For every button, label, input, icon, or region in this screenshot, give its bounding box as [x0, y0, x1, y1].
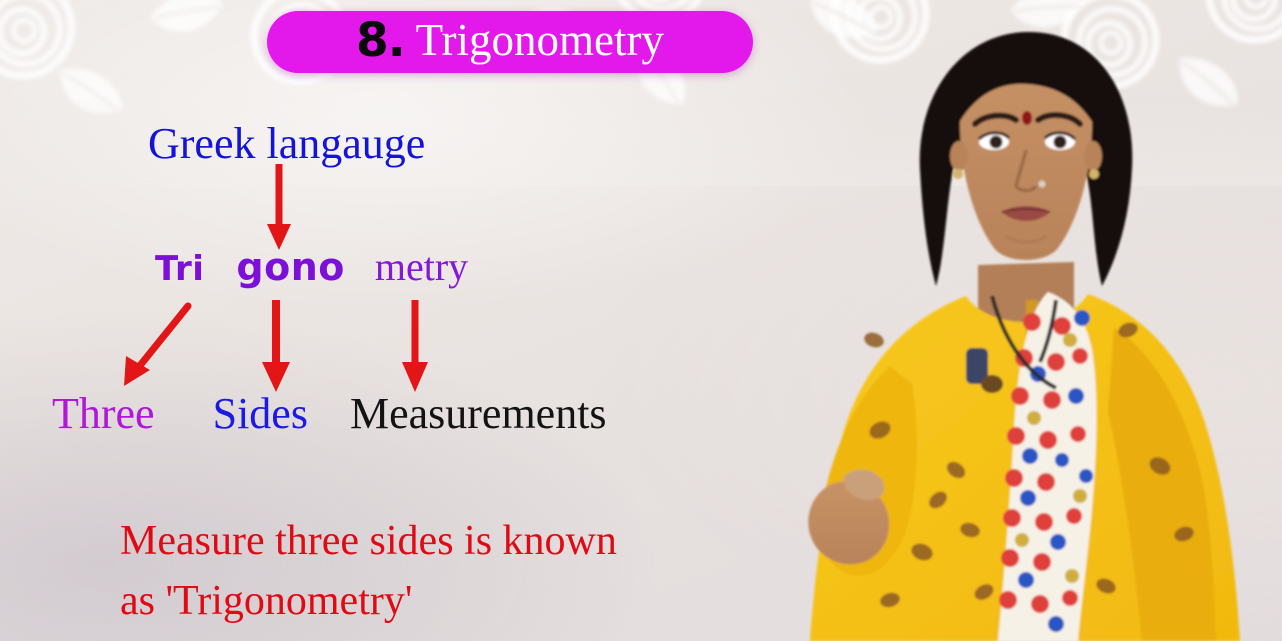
arrow-gono-to-sides: [259, 300, 293, 392]
word-breakdown-row: Tri gono metry: [155, 243, 468, 290]
meaning-measurements: Measurements: [350, 388, 607, 439]
word-part-metry: metry: [375, 243, 468, 290]
arrow-tri-to-three: [110, 300, 200, 392]
word-part-gono: gono: [236, 245, 344, 289]
meaning-sides: Sides: [213, 388, 308, 439]
arrow-metry-to-measurements: [398, 300, 432, 392]
summary-line-1: Measure three sides is known: [120, 512, 617, 572]
word-part-tri: Tri: [155, 249, 204, 289]
greek-language-label: Greek langauge: [148, 122, 425, 166]
slide-stage: 8. Trigonometry Greek langauge Tri gono …: [0, 0, 1282, 641]
slide-number: 8.: [356, 17, 405, 64]
slide-title-banner: 8. Trigonometry: [267, 11, 753, 73]
meanings-row: Three Sides Measurements: [52, 388, 607, 439]
arrow-greek-to-word: [262, 164, 296, 250]
presenter-video-overlay: [770, 0, 1282, 641]
summary-text: Measure three sides is known as 'Trigono…: [120, 512, 617, 631]
meaning-three: Three: [52, 388, 155, 439]
page-title: Trigonometry: [416, 18, 664, 63]
summary-line-2: as 'Trigonometry': [120, 572, 617, 632]
